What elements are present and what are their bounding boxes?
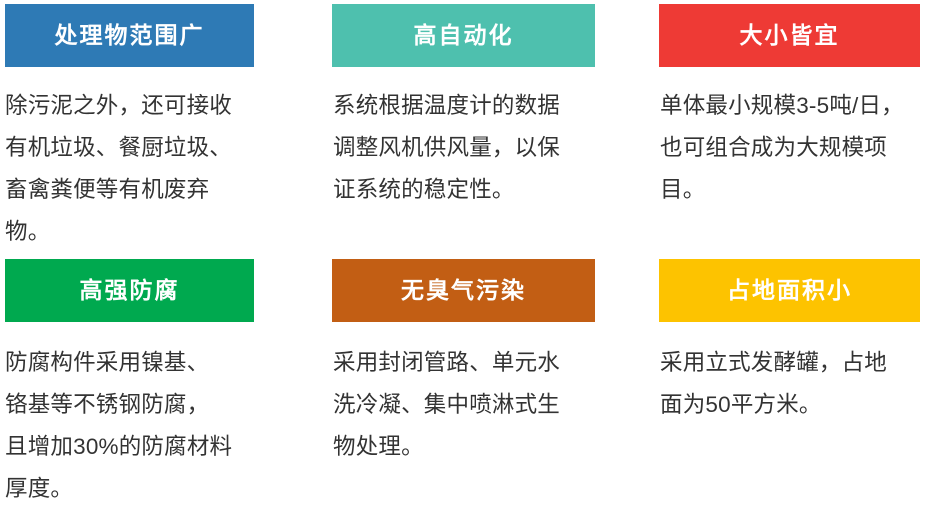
card-title-high-automation: 高自动化	[414, 24, 514, 47]
card-body-any-scale: 单体最小规模3-5吨/日， 也可组合成为大规模项目。	[659, 85, 920, 259]
card-header-bar-small-footprint: 占地面积小	[659, 259, 920, 322]
card-header-bar-no-odor: 无臭气污染	[332, 259, 595, 322]
card-title-no-odor: 无臭气污染	[401, 279, 526, 302]
feature-card-small-footprint: 占地面积小 采用立式发酵罐，占地 面为50平方米。	[659, 259, 920, 509]
feature-card-processing-range: 处理物范围广 除污泥之外，还可接收 有机垃圾、餐厨垃圾、 畜禽粪便等有机废弃物。	[5, 4, 254, 259]
card-body-processing-range: 除污泥之外，还可接收 有机垃圾、餐厨垃圾、 畜禽粪便等有机废弃物。	[5, 85, 254, 259]
card-body-no-odor: 采用封闭管路、单元水 洗冷凝、集中喷淋式生 物处理。	[332, 342, 595, 509]
card-body-anti-corrosion: 防腐构件采用镍基、 铬基等不锈钢防腐， 且增加30%的防腐材料 厚度。	[5, 342, 254, 510]
card-title-anti-corrosion: 高强防腐	[80, 279, 180, 302]
card-header-bar-high-automation: 高自动化	[332, 4, 595, 67]
card-title-small-footprint: 占地面积小	[727, 279, 852, 302]
feature-card-grid: 处理物范围广 除污泥之外，还可接收 有机垃圾、餐厨垃圾、 畜禽粪便等有机废弃物。…	[0, 0, 937, 509]
feature-card-any-scale: 大小皆宜 单体最小规模3-5吨/日， 也可组合成为大规模项目。	[659, 4, 920, 259]
feature-card-high-automation: 高自动化 系统根据温度计的数据 调整风机供风量，以保 证系统的稳定性。	[332, 4, 595, 259]
card-header-bar-any-scale: 大小皆宜	[659, 4, 920, 67]
card-body-small-footprint: 采用立式发酵罐，占地 面为50平方米。	[659, 342, 920, 509]
card-header-bar-processing-range: 处理物范围广	[5, 4, 254, 67]
card-title-any-scale: 大小皆宜	[740, 24, 840, 47]
card-title-processing-range: 处理物范围广	[55, 24, 205, 47]
feature-card-no-odor: 无臭气污染 采用封闭管路、单元水 洗冷凝、集中喷淋式生 物处理。	[332, 259, 595, 509]
feature-card-anti-corrosion: 高强防腐 防腐构件采用镍基、 铬基等不锈钢防腐， 且增加30%的防腐材料 厚度。	[5, 259, 254, 509]
card-body-high-automation: 系统根据温度计的数据 调整风机供风量，以保 证系统的稳定性。	[332, 85, 595, 259]
card-header-bar-anti-corrosion: 高强防腐	[5, 259, 254, 322]
